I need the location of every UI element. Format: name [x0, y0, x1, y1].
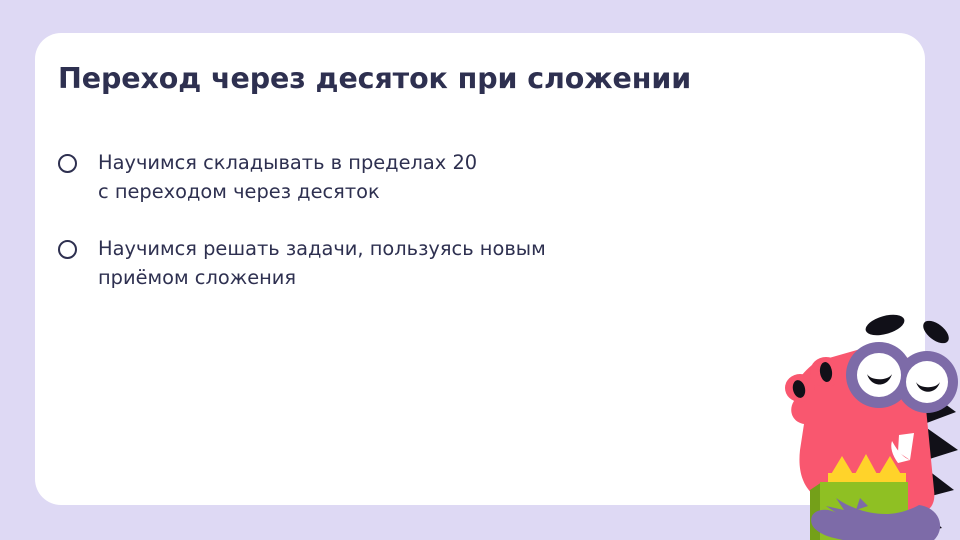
slide-canvas: Переход через десяток при сложении Научи…	[0, 0, 960, 540]
hollow-circle-icon	[58, 240, 77, 259]
page-title: Переход через десяток при сложении	[58, 62, 838, 96]
list-item-label: Научимся складывать в пределах 20 с пере…	[98, 148, 477, 206]
list-item: Научимся решать задачи, пользуясь новым …	[58, 234, 758, 292]
objectives-list: Научимся складывать в пределах 20 с пере…	[58, 148, 758, 292]
dinosaur-eyebrow-icon	[863, 311, 952, 348]
dinosaur-mascot-illustration	[764, 300, 960, 540]
list-item-label: Научимся решать задачи, пользуясь новым …	[98, 234, 546, 292]
list-item: Научимся складывать в пределах 20 с пере…	[58, 148, 758, 206]
hollow-circle-icon	[58, 154, 77, 173]
